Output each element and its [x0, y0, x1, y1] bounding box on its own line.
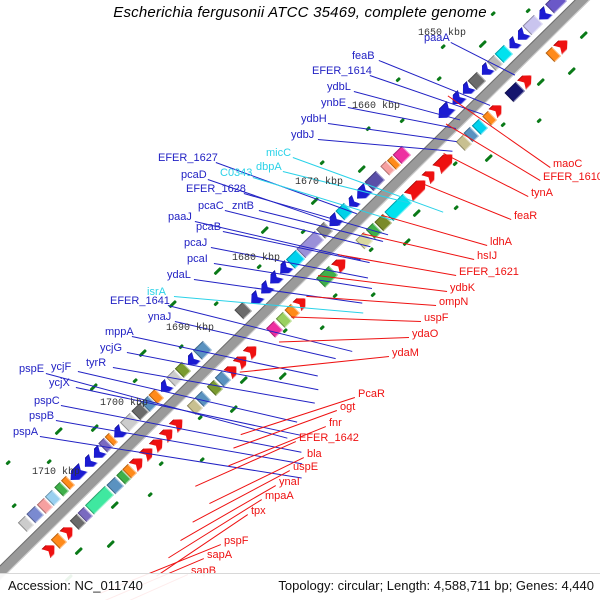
gene-label[interactable]: tynA — [531, 188, 553, 199]
gene-label[interactable]: EFER_1614 — [312, 66, 372, 77]
small-feature-marker[interactable] — [132, 378, 138, 384]
gene-label[interactable]: ynbE — [321, 98, 346, 109]
small-feature-marker[interactable] — [436, 76, 442, 82]
status-bar: Accession: NC_011740 Topology: circular;… — [0, 573, 600, 600]
gene-label[interactable]: ycjF — [51, 362, 71, 373]
gene-label[interactable]: ydbL — [327, 82, 351, 93]
small-feature-marker[interactable] — [11, 502, 17, 508]
ruler-tick-label: 1660 kbp — [352, 101, 400, 112]
gene-label[interactable]: ynaI — [279, 477, 300, 488]
small-feature-marker[interactable] — [536, 78, 545, 86]
small-feature-marker[interactable] — [147, 492, 153, 498]
small-feature-marker[interactable] — [74, 547, 83, 555]
gene-label[interactable]: pspA — [13, 427, 38, 438]
gene-label[interactable]: pcaC — [198, 201, 224, 212]
gene-label[interactable]: EFER_1641 — [110, 296, 170, 307]
small-feature-marker[interactable] — [579, 30, 588, 38]
gene-label[interactable]: ydbK — [450, 283, 475, 294]
gene-label[interactable]: ynaJ — [148, 312, 171, 323]
small-feature-marker[interactable] — [395, 77, 401, 83]
gene-label[interactable]: pcaD — [181, 170, 207, 181]
small-feature-marker[interactable] — [485, 154, 494, 162]
gene-label[interactable]: ydaL — [167, 270, 191, 281]
small-feature-marker[interactable] — [319, 325, 325, 331]
gene-glyph-reverse[interactable] — [504, 82, 525, 102]
gene-label[interactable]: feaR — [514, 211, 537, 222]
gene-label[interactable]: ydbJ — [291, 130, 314, 141]
gene-label[interactable]: ydaO — [412, 329, 438, 340]
small-feature-marker[interactable] — [568, 67, 577, 75]
label-leader-line — [306, 296, 436, 306]
gene-glyph-reverse[interactable] — [404, 175, 430, 201]
small-feature-marker[interactable] — [256, 264, 262, 270]
small-feature-marker[interactable] — [240, 376, 249, 384]
gene-label[interactable]: C0343 — [220, 168, 252, 179]
gene-label[interactable]: ldhA — [490, 237, 512, 248]
ruler-tick-label: 1650 kbp — [418, 28, 466, 39]
gene-label[interactable]: EFER_1610 — [543, 172, 600, 183]
small-feature-marker[interactable] — [159, 461, 165, 467]
gene-label[interactable]: hsIJ — [477, 251, 497, 262]
gene-label[interactable]: mppA — [105, 327, 134, 338]
ruler-tick-label: 1700 kbp — [100, 398, 148, 409]
ruler-tick-label: 1690 kbp — [166, 323, 214, 334]
gene-label[interactable]: bla — [307, 449, 322, 460]
gene-label[interactable]: pcaB — [196, 222, 221, 233]
gene-glyph-forward[interactable] — [235, 301, 253, 319]
gene-label[interactable]: EFER_1642 — [299, 433, 359, 444]
small-feature-marker[interactable] — [357, 164, 366, 172]
gene-label[interactable]: sapA — [207, 550, 232, 561]
page-title: Escherichia fergusonii ATCC 35469, compl… — [0, 4, 600, 21]
small-feature-marker[interactable] — [107, 540, 116, 548]
small-feature-marker[interactable] — [371, 292, 377, 298]
gene-label[interactable]: ydbH — [301, 114, 327, 125]
gene-label[interactable]: zntB — [232, 201, 254, 212]
small-feature-marker[interactable] — [54, 426, 63, 434]
small-feature-marker[interactable] — [453, 205, 459, 211]
gene-label[interactable]: pspE — [19, 364, 44, 375]
gene-label[interactable]: EFER_1628 — [186, 184, 246, 195]
gene-label[interactable]: pspC — [34, 396, 60, 407]
gene-label[interactable]: pspB — [29, 411, 54, 422]
label-leader-line — [328, 123, 457, 142]
label-leader-line — [423, 183, 511, 220]
gene-label[interactable]: pcaI — [187, 254, 208, 265]
gene-label[interactable]: micC — [266, 148, 291, 159]
small-feature-marker[interactable] — [278, 372, 287, 380]
small-feature-marker[interactable] — [452, 161, 458, 167]
gene-label[interactable]: uspE — [293, 462, 318, 473]
ruler-tick-label: 1670 kbp — [295, 177, 343, 188]
gene-glyph-reverse[interactable] — [545, 47, 561, 63]
small-feature-marker[interactable] — [110, 500, 119, 508]
gene-label[interactable]: tpx — [251, 506, 266, 517]
gene-label[interactable]: maoC — [553, 159, 582, 170]
small-feature-marker[interactable] — [441, 43, 447, 49]
small-feature-marker[interactable] — [6, 460, 12, 466]
small-feature-marker[interactable] — [319, 160, 325, 166]
gene-label[interactable]: ycjG — [100, 343, 122, 354]
accession-label: Accession: NC_011740 — [8, 578, 143, 593]
gene-label[interactable]: ompN — [439, 297, 468, 308]
gene-label[interactable]: ydaM — [392, 348, 419, 359]
gene-label[interactable]: PcaR — [358, 389, 385, 400]
small-feature-marker[interactable] — [283, 328, 289, 334]
gene-label[interactable]: mpaA — [265, 491, 294, 502]
ruler-tick-label: 1710 kbp — [32, 467, 80, 478]
gene-label[interactable]: fnr — [329, 418, 342, 429]
gene-label[interactable]: pspF — [224, 536, 248, 547]
small-feature-marker[interactable] — [47, 459, 53, 465]
small-feature-marker[interactable] — [412, 209, 421, 217]
gene-label[interactable]: EFER_1621 — [459, 267, 519, 278]
gene-label[interactable]: ogt — [340, 402, 355, 413]
small-feature-marker[interactable] — [536, 118, 542, 124]
ruler-tick-label: 1680 kbp — [232, 253, 280, 264]
gene-label[interactable]: feaB — [352, 51, 375, 62]
gene-label[interactable]: EFER_1627 — [158, 153, 218, 164]
small-feature-marker[interactable] — [368, 247, 374, 253]
gene-label[interactable]: paaJ — [168, 212, 192, 223]
label-leader-line — [446, 123, 541, 181]
topology-info: Topology: circular; Length: 4,588,711 bp… — [278, 578, 594, 593]
small-feature-marker[interactable] — [501, 122, 507, 128]
label-leader-line — [338, 254, 456, 276]
gene-label[interactable]: pcaJ — [184, 238, 207, 249]
gene-label[interactable]: ycjX — [49, 378, 70, 389]
gene-label[interactable]: tyrR — [86, 358, 106, 369]
small-feature-marker[interactable] — [214, 300, 220, 306]
gene-label[interactable]: dbpA — [256, 162, 282, 173]
label-leader-line — [291, 316, 421, 322]
small-feature-marker[interactable] — [214, 266, 223, 274]
genome-viewer-canvas[interactable]: paaAfeaBEFER_1614ydbLynbEydbHydbJEFER_16… — [0, 0, 600, 600]
small-feature-marker[interactable] — [479, 40, 488, 48]
gene-label[interactable]: uspF — [424, 313, 448, 324]
small-feature-marker[interactable] — [261, 226, 270, 234]
